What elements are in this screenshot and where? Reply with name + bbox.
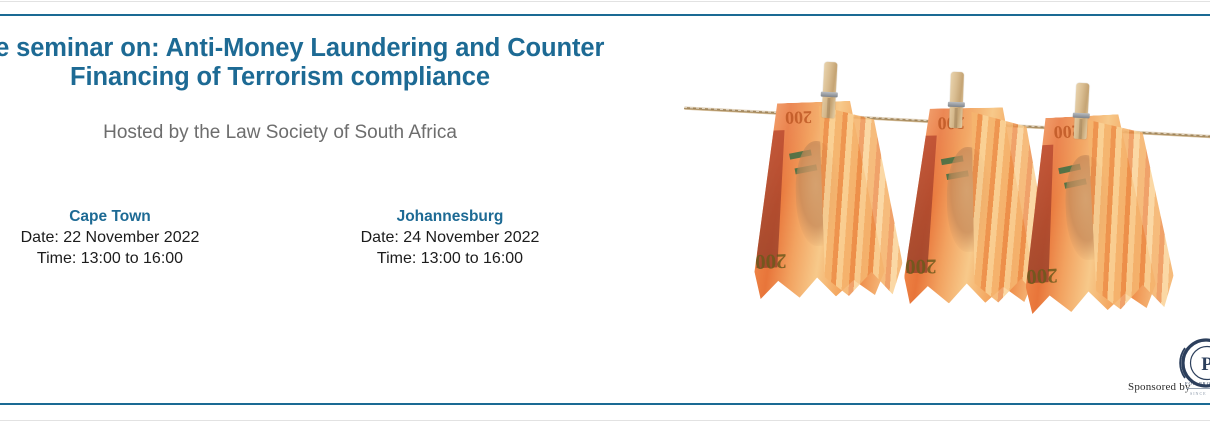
banknote: 200 200 xyxy=(1017,113,1157,315)
banknote-denomination: 200 xyxy=(905,253,937,279)
event-city: Cape Town xyxy=(0,207,280,227)
banknote-denomination-top: 200 xyxy=(785,106,813,128)
headline-block: Free seminar on: Anti-Money Laundering a… xyxy=(0,34,620,145)
banknote-security-strip xyxy=(1064,179,1087,190)
event-city: Johannesburg xyxy=(280,207,620,227)
banknote-stack-fan xyxy=(1087,112,1175,311)
seminar-banner: Free seminar on: Anti-Money Laundering a… xyxy=(0,0,1210,423)
event-date: Date: 22 November 2022 xyxy=(0,227,280,248)
bottom-hairline xyxy=(0,420,1210,421)
sponsor-logo-since: SINCE xyxy=(1190,391,1207,396)
banknote-security-strip xyxy=(941,155,964,165)
banknote: 200 200 xyxy=(901,107,1034,304)
banknote: 200 200 xyxy=(749,100,886,299)
banknote-security-strip xyxy=(1058,163,1081,174)
banknote-security-strip xyxy=(946,171,969,181)
event-date: Date: 24 November 2022 xyxy=(280,227,620,248)
svg-text:P: P xyxy=(1201,354,1210,375)
top-hairline xyxy=(0,1,1210,2)
sponsor-logo-divider xyxy=(1186,388,1210,389)
sponsor-logo-tagline: FOR PROFESSIONALS xyxy=(1185,381,1210,386)
banknote-security-strip xyxy=(789,149,812,159)
banknote-denomination: 200 xyxy=(1026,262,1059,289)
banknote-stack-fan xyxy=(819,99,904,297)
event-list: Cape Town Date: 22 November 2022 Time: 1… xyxy=(0,207,620,269)
event-time: Time: 13:00 to 16:00 xyxy=(280,248,620,269)
event-time: Time: 13:00 to 16:00 xyxy=(0,248,280,269)
banknote-denomination: 200 xyxy=(755,248,787,274)
event-block-cape-town: Cape Town Date: 22 November 2022 Time: 1… xyxy=(0,207,280,269)
headline-line-2: Financing of Terrorism compliance xyxy=(0,63,620,92)
hosted-by-subtitle: Hosted by the Law Society of South Afric… xyxy=(0,92,620,145)
top-divider-rule xyxy=(0,14,1210,16)
clothespin xyxy=(949,72,964,128)
event-block-johannesburg: Johannesburg Date: 24 November 2022 Time… xyxy=(280,207,620,269)
banknote-security-strip xyxy=(795,165,818,175)
page-title: Free seminar on: Anti-Money Laundering a… xyxy=(0,34,620,92)
headline-line-1: Free seminar on: Anti-Money Laundering a… xyxy=(0,34,604,62)
money-on-clothesline-image: 200 200 200 200 200 200 xyxy=(660,50,1210,325)
bottom-divider-rule xyxy=(0,403,1210,405)
